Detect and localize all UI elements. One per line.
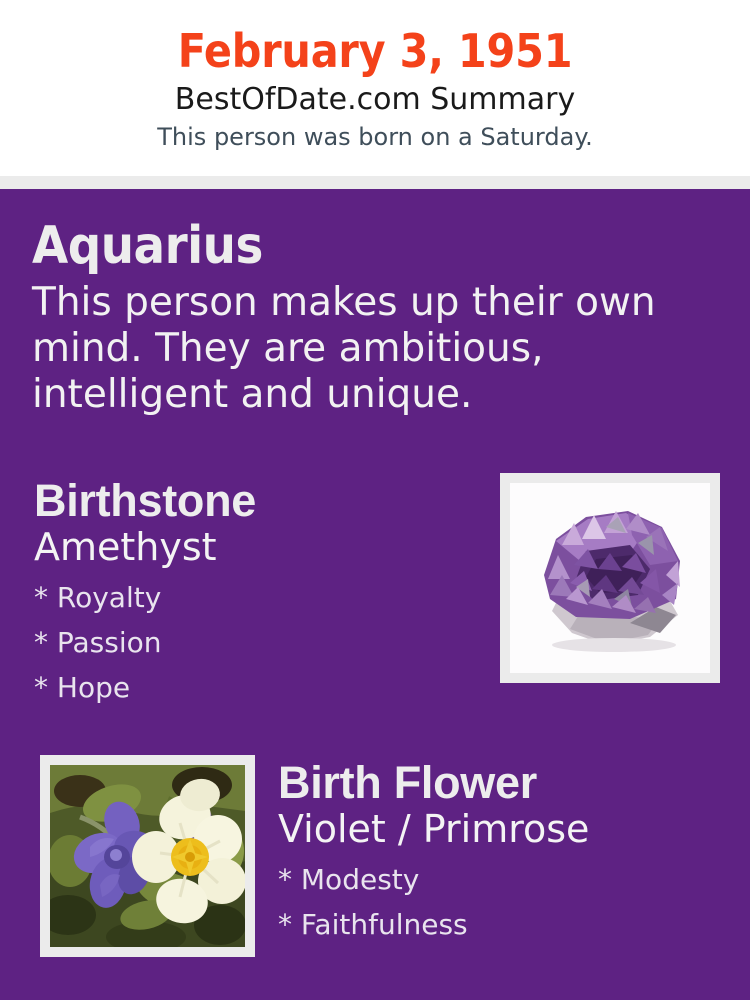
zodiac-section: Aquarius This person makes up their own … bbox=[0, 189, 750, 418]
list-item: * Royalty bbox=[34, 575, 500, 620]
list-item: * Hope bbox=[34, 665, 500, 710]
amethyst-crystal-illustration bbox=[510, 483, 710, 673]
birthflower-name: Violet / Primrose bbox=[278, 807, 750, 851]
zodiac-description: This person makes up their own mind. The… bbox=[32, 280, 680, 418]
birthstone-name: Amethyst bbox=[34, 525, 500, 569]
site-name-subtitle: BestOfDate.com Summary bbox=[0, 80, 750, 120]
violet-primrose-photo bbox=[50, 765, 245, 947]
birthflower-section: Birth Flower Violet / Primrose * Modesty… bbox=[0, 755, 750, 957]
birthstone-section: Birthstone Amethyst * Royalty * Passion … bbox=[0, 473, 750, 710]
day-of-week-note: This person was born on a Saturday. bbox=[0, 121, 750, 153]
list-item: * Passion bbox=[34, 620, 500, 665]
birthstone-image-frame bbox=[500, 473, 720, 683]
birthstone-text-block: Birthstone Amethyst * Royalty * Passion … bbox=[34, 473, 500, 710]
zodiac-sign-name: Aquarius bbox=[32, 216, 710, 276]
birthstone-heading: Birthstone bbox=[34, 475, 500, 527]
birthflower-heading: Birth Flower bbox=[278, 757, 750, 809]
summary-body-panel: Aquarius This person makes up their own … bbox=[0, 189, 750, 1000]
birthflower-trait-list: * Modesty * Faithfulness bbox=[278, 857, 750, 947]
summary-header: February 3, 1951 BestOfDate.com Summary … bbox=[0, 0, 750, 176]
birthflower-text-block: Birth Flower Violet / Primrose * Modesty… bbox=[278, 755, 750, 947]
birthstone-trait-list: * Royalty * Passion * Hope bbox=[34, 575, 500, 710]
amethyst-crystal-photo bbox=[510, 483, 710, 673]
page-title-date: February 3, 1951 bbox=[0, 24, 750, 78]
list-item: * Faithfulness bbox=[278, 902, 750, 947]
violet-primrose-illustration bbox=[50, 765, 245, 947]
header-divider bbox=[0, 176, 750, 189]
list-item: * Modesty bbox=[278, 857, 750, 902]
birthflower-image-frame bbox=[40, 755, 255, 957]
